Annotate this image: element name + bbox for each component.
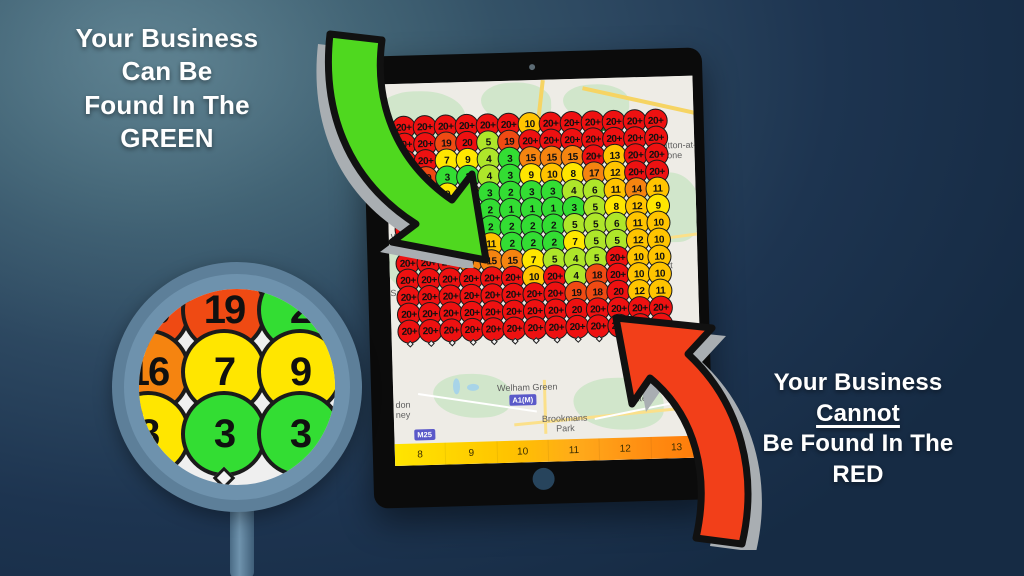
rank-pin-value: 3 [181, 391, 267, 477]
map-place-label: gate [629, 393, 647, 403]
map-place-label: Park [556, 423, 575, 434]
headline-right: Your Business Cannot Be Found In The RED [708, 368, 1008, 491]
magnified-ranking-grid: 181921679833 [139, 289, 333, 453]
ranking-grid-row: 833 [139, 391, 333, 453]
headline-right-line-3: Be Found In The [708, 429, 1008, 460]
rank-pin[interactable]: 3 [257, 391, 335, 477]
map-place-label: Welham Green [497, 382, 558, 394]
tablet-device: WhitwellKnebworthWatton-at-StoneWheatSan… [362, 47, 714, 508]
rank-pin-value: 3 [257, 391, 335, 477]
rank-pin[interactable]: 3 [181, 391, 267, 477]
rank-pin-tip [511, 338, 518, 345]
headline-left-line-3: Found In The [22, 89, 312, 122]
rank-pin-tip [427, 340, 434, 347]
legend-tick: 13 [651, 435, 703, 458]
ranking-grid[interactable]: 20+20+20+20+20+20+1020+20+20+20+20+20+20… [391, 108, 670, 337]
rank-pin-tip [448, 339, 455, 346]
headline-left-line-1: Your Business [22, 22, 312, 55]
rank-pin-tip [469, 339, 476, 346]
rank-pin-tip [616, 335, 623, 342]
ranking-grid-row: 1679 [139, 329, 333, 391]
map-canvas[interactable]: WhitwellKnebworthWatton-at-StoneWheatSan… [385, 76, 704, 466]
headline-left-line-4: GREEN [22, 122, 312, 155]
headline-right-emphasis: Cannot [708, 399, 1008, 430]
map-road-shield: M25 [414, 429, 435, 441]
headline-left-line-2: Can Be [22, 55, 312, 88]
map-water [453, 378, 460, 394]
rank-pin-tip [532, 337, 539, 344]
tablet-screen[interactable]: WhitwellKnebworthWatton-at-StoneWheatSan… [385, 76, 704, 466]
legend-tick: 10 [497, 440, 549, 463]
rank-pin-tip [406, 341, 413, 348]
legend-tick: 8 [395, 443, 447, 466]
magnifier-lens: 181921679833 [139, 289, 335, 485]
magnifying-glass: 181921679833 [112, 262, 370, 576]
ranking-grid-row: 18192 [139, 289, 333, 329]
rank-pin-tip [553, 336, 560, 343]
legend-tick: 9 [446, 441, 498, 464]
legend-tick: 11 [549, 438, 601, 461]
map-place-label: ney [396, 410, 411, 420]
map-place-label: Brookmans [542, 413, 588, 424]
rank-pin-tip [490, 338, 497, 345]
map-road-shield: A1(M) [509, 394, 536, 406]
rank-pin-tip [574, 336, 581, 343]
map-place-label: don [395, 400, 410, 410]
map-greenspace [573, 377, 664, 431]
headline-right-line-1: Your Business [708, 368, 1008, 399]
headline-left: Your Business Can Be Found In The GREEN [22, 22, 312, 155]
headline-right-line-4: RED [708, 460, 1008, 491]
rank-pin[interactable]: 20+ [649, 312, 674, 337]
legend-tick: 12 [600, 437, 652, 460]
rank-pin-tip [595, 335, 602, 342]
